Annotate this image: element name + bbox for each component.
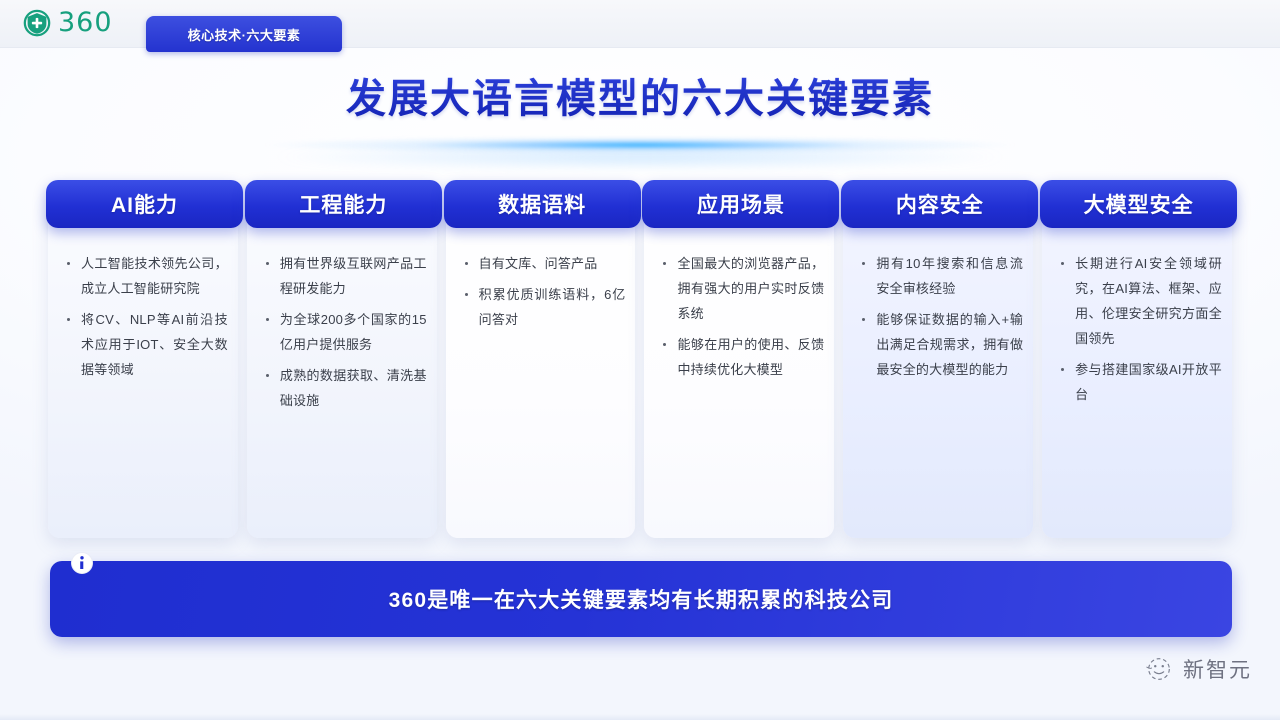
slide-canvas: 360 核心技术·六大要素 发展大语言模型的六大关键要素 AI能力 人工智能技术… — [0, 0, 1280, 720]
page-title-wrap: 发展大语言模型的六大关键要素 — [0, 66, 1280, 124]
card-header: AI能力 — [46, 180, 243, 228]
card-title: 大模型安全 — [1084, 189, 1194, 219]
list-item: 成熟的数据获取、清洗基础设施 — [263, 364, 427, 414]
list-item: 将CV、NLP等AI前沿技术应用于IOT、安全大数据等领域 — [64, 308, 228, 383]
card-title: 内容安全 — [896, 189, 984, 219]
card-bullet-list: 拥有10年搜索和信息流安全审核经验 能够保证数据的输入+输出满足合规需求，拥有做… — [859, 252, 1023, 389]
list-item: 能够在用户的使用、反馈中持续优化大模型 — [660, 333, 824, 383]
brand-logo: 360 — [22, 8, 113, 38]
card-body — [446, 194, 636, 538]
element-card-application-scenarios[interactable]: 应用场景 全国最大的浏览器产品，拥有强大的用户实时反馈系统 能够在用户的使用、反… — [644, 180, 834, 538]
card-title: 数据语料 — [498, 189, 586, 219]
element-card-data-corpus[interactable]: 数据语料 自有文库、问答产品 积累优质训练语料，6亿问答对 — [446, 180, 636, 538]
title-glow-streak — [260, 136, 1020, 154]
summary-banner-text: 360是唯一在六大关键要素均有长期积累的科技公司 — [389, 584, 894, 614]
element-card-large-model-safety[interactable]: 大模型安全 长期进行AI安全领域研究，在AI算法、框架、应用、伦理安全研究方面全… — [1042, 180, 1232, 538]
card-header: 大模型安全 — [1040, 180, 1237, 228]
card-bullet-list: 人工智能技术领先公司，成立人工智能研究院 将CV、NLP等AI前沿技术应用于IO… — [64, 252, 228, 389]
card-header: 内容安全 — [841, 180, 1038, 228]
top-bar: 360 核心技术·六大要素 — [0, 0, 1280, 48]
card-title: AI能力 — [111, 189, 178, 219]
card-header: 应用场景 — [642, 180, 839, 228]
card-bullet-list: 全国最大的浏览器产品，拥有强大的用户实时反馈系统 能够在用户的使用、反馈中持续优… — [660, 252, 824, 389]
watermark-text: 新智元 — [1183, 654, 1252, 684]
list-item: 人工智能技术领先公司，成立人工智能研究院 — [64, 252, 228, 302]
page-title: 发展大语言模型的六大关键要素 — [346, 66, 934, 124]
element-card-ai-capability[interactable]: AI能力 人工智能技术领先公司，成立人工智能研究院 将CV、NLP等AI前沿技术… — [48, 180, 238, 538]
card-bullet-list: 拥有世界级互联网产品工程研发能力 为全球200多个国家的15亿用户提供服务 成熟… — [263, 252, 427, 420]
summary-banner: 360是唯一在六大关键要素均有长期积累的科技公司 — [50, 561, 1232, 637]
card-bullet-list: 长期进行AI安全领域研究，在AI算法、框架、应用、伦理安全研究方面全国领先 参与… — [1058, 252, 1222, 414]
watermark: 新智元 — [1144, 654, 1252, 684]
360-shield-plus-icon — [22, 8, 52, 38]
card-header: 数据语料 — [444, 180, 641, 228]
list-item: 拥有世界级互联网产品工程研发能力 — [263, 252, 427, 302]
element-card-engineering-capability[interactable]: 工程能力 拥有世界级互联网产品工程研发能力 为全球200多个国家的15亿用户提供… — [247, 180, 437, 538]
list-item: 长期进行AI安全领域研究，在AI算法、框架、应用、伦理安全研究方面全国领先 — [1058, 252, 1222, 352]
card-title: 应用场景 — [697, 189, 785, 219]
list-item: 为全球200多个国家的15亿用户提供服务 — [263, 308, 427, 358]
title-glow-outer — [150, 140, 1130, 174]
list-item: 能够保证数据的输入+输出满足合规需求，拥有做最安全的大模型的能力 — [859, 308, 1023, 383]
list-item: 积累优质训练语料，6亿问答对 — [462, 283, 626, 333]
list-item: 全国最大的浏览器产品，拥有强大的用户实时反馈系统 — [660, 252, 824, 327]
card-bullet-list: 自有文库、问答产品 积累优质训练语料，6亿问答对 — [462, 252, 626, 339]
card-header: 工程能力 — [245, 180, 442, 228]
list-item: 自有文库、问答产品 — [462, 252, 626, 277]
element-card-content-safety[interactable]: 内容安全 拥有10年搜索和信息流安全审核经验 能够保证数据的输入+输出满足合规需… — [843, 180, 1033, 538]
tab-label: 核心技术·六大要素 — [188, 25, 301, 44]
tab-core-technology[interactable]: 核心技术·六大要素 — [146, 16, 342, 52]
card-title: 工程能力 — [299, 189, 387, 219]
smiley-circle-icon — [1144, 654, 1174, 684]
info-circle-icon — [70, 551, 94, 575]
brand-logo-text: 360 — [58, 8, 113, 38]
list-item: 参与搭建国家级AI开放平台 — [1058, 358, 1222, 408]
list-item: 拥有10年搜索和信息流安全审核经验 — [859, 252, 1023, 302]
elements-card-row: AI能力 人工智能技术领先公司，成立人工智能研究院 将CV、NLP等AI前沿技术… — [48, 180, 1232, 538]
